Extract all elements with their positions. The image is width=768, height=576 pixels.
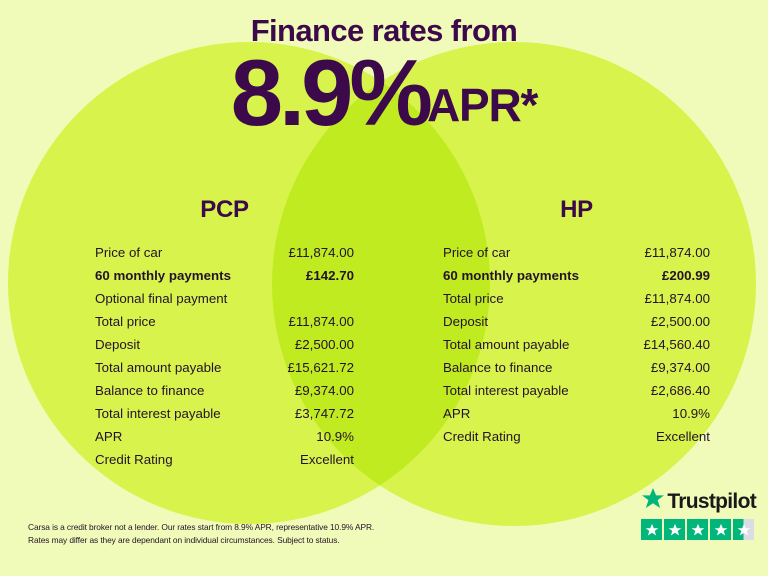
table-row: Total price£11,874.00: [95, 310, 354, 333]
table-row: APR10.9%: [443, 402, 710, 425]
row-value: £14,560.40: [643, 333, 710, 356]
row-value: £11,874.00: [288, 241, 354, 264]
row-value: £15,621.72: [287, 356, 354, 379]
row-label: Total price: [443, 287, 504, 310]
disclaimer-text: Carsa is a credit broker not a lender. O…: [28, 521, 374, 547]
headline-rate: 8.9% APR*: [0, 50, 768, 136]
row-label: Price of car: [443, 241, 510, 264]
plan-title-pcp: PCP: [95, 196, 354, 224]
row-value: £11,874.00: [288, 310, 354, 333]
table-row: Total interest payable£3,747.72: [95, 402, 354, 425]
row-label: Balance to finance: [95, 379, 204, 402]
row-value: £9,374.00: [295, 379, 354, 402]
table-row: Total amount payable£15,621.72: [95, 356, 354, 379]
rating-star-icon: [641, 519, 662, 540]
row-value: Excellent: [300, 448, 354, 471]
apr-rate-value: 8.9%: [231, 50, 429, 136]
table-row: Total price£11,874.00: [443, 287, 710, 310]
table-row: 60 monthly payments£200.99: [443, 264, 710, 287]
table-row: Balance to finance£9,374.00: [443, 356, 710, 379]
row-value: Excellent: [656, 425, 710, 448]
row-value: £11,874.00: [644, 241, 710, 264]
row-label: 60 monthly payments: [95, 264, 231, 287]
row-value: 10.9%: [316, 425, 354, 448]
row-label: Total amount payable: [443, 333, 569, 356]
table-row: Credit RatingExcellent: [95, 448, 354, 471]
row-label: APR: [95, 425, 122, 448]
table-row: Deposit£2,500.00: [443, 310, 710, 333]
plan-rows-hp: Price of car£11,874.00 60 monthly paymen…: [443, 241, 710, 448]
row-label: Credit Rating: [95, 448, 173, 471]
trustpilot-stars: [641, 519, 754, 540]
row-value: £2,686.40: [651, 379, 710, 402]
trustpilot-wordmark: Trustpilot: [667, 491, 756, 512]
rating-star-icon: [687, 519, 708, 540]
table-row: Price of car£11,874.00: [95, 241, 354, 264]
row-label: Optional final payment: [95, 287, 227, 310]
table-row: Optional final payment: [95, 287, 354, 310]
table-row: 60 monthly payments£142.70: [95, 264, 354, 287]
disclaimer-line-1: Carsa is a credit broker not a lender. O…: [28, 521, 374, 534]
table-row: APR10.9%: [95, 425, 354, 448]
table-row: Total interest payable£2,686.40: [443, 379, 710, 402]
row-value: 10.9%: [672, 402, 710, 425]
disclaimer-line-2: Rates may differ as they are dependant o…: [28, 534, 374, 547]
plan-card-pcp: PCP Price of car£11,874.00 60 monthly pa…: [0, 196, 384, 471]
row-label: Total amount payable: [95, 356, 221, 379]
row-label: Credit Rating: [443, 425, 521, 448]
row-label: APR: [443, 402, 470, 425]
plan-card-hp: HP Price of car£11,874.00 60 monthly pay…: [384, 196, 768, 471]
row-label: 60 monthly payments: [443, 264, 579, 287]
trustpilot-logo: Trustpilot: [641, 487, 756, 515]
trustpilot-rating: Trustpilot: [641, 487, 756, 540]
row-value: £2,500.00: [295, 333, 354, 356]
apr-rate-suffix: APR*: [427, 82, 537, 137]
row-label: Deposit: [95, 333, 140, 356]
trustpilot-star-icon: [641, 487, 665, 515]
table-row: Credit RatingExcellent: [443, 425, 710, 448]
plan-title-hp: HP: [443, 196, 710, 224]
header: Finance rates from 8.9% APR*: [0, 14, 768, 137]
row-label: Balance to finance: [443, 356, 552, 379]
row-label: Total price: [95, 310, 156, 333]
rating-star-icon: [710, 519, 731, 540]
finance-tables: PCP Price of car£11,874.00 60 monthly pa…: [0, 196, 768, 471]
row-label: Deposit: [443, 310, 488, 333]
table-row: Deposit£2,500.00: [95, 333, 354, 356]
rating-star-icon: [664, 519, 685, 540]
rating-star-half-icon: [733, 519, 754, 540]
table-row: Balance to finance£9,374.00: [95, 379, 354, 402]
row-value: £200.99: [662, 264, 710, 287]
row-value: £9,374.00: [651, 356, 710, 379]
row-value: £142.70: [306, 264, 354, 287]
row-value: £3,747.72: [295, 402, 354, 425]
row-label: Total interest payable: [95, 402, 221, 425]
promo-graphic: Finance rates from 8.9% APR* PCP Price o…: [0, 0, 768, 576]
table-row: Total amount payable£14,560.40: [443, 333, 710, 356]
row-value: £2,500.00: [651, 310, 710, 333]
row-label: Price of car: [95, 241, 162, 264]
plan-rows-pcp: Price of car£11,874.00 60 monthly paymen…: [95, 241, 354, 471]
row-value: £11,874.00: [644, 287, 710, 310]
row-label: Total interest payable: [443, 379, 569, 402]
table-row: Price of car£11,874.00: [443, 241, 710, 264]
